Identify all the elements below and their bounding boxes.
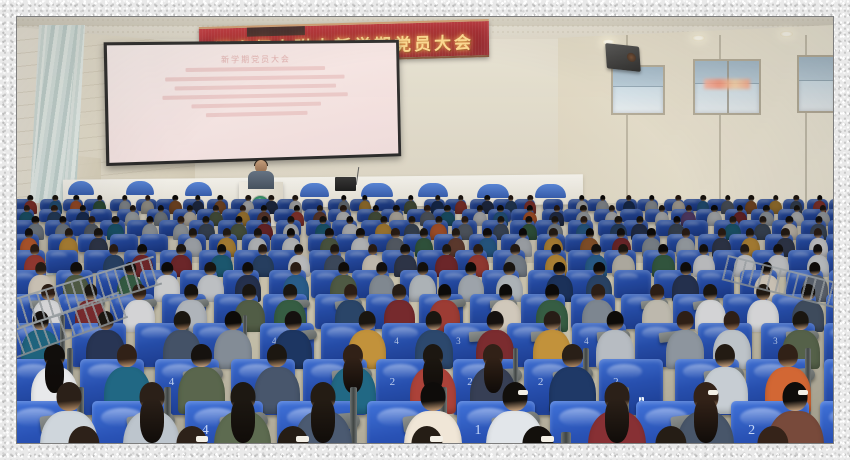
audience-area: 4443434122221323411324142132 [17,193,833,443]
foreground-audience [17,193,833,443]
window [693,59,761,115]
window-glow [704,79,750,89]
projection-screen-frame: 新学期党员大会 [104,40,402,166]
window-blind [799,57,833,81]
window [797,55,833,113]
ceiling-speaker-icon [605,43,641,72]
screen-body-lines [138,61,370,124]
stage-monitor [335,177,356,191]
photo-mat-frame: 湖南师大附中新学期党员大会 新学期党员大会 444343 [0,0,850,460]
projection-screen: 新学期党员大会 [107,43,398,163]
speaker-body [248,171,274,189]
speaker-at-podium [248,160,274,188]
downlight [692,35,705,41]
photograph: 湖南师大附中新学期党员大会 新学期党员大会 444343 [17,17,833,443]
window [611,65,665,115]
downlight [780,31,793,37]
